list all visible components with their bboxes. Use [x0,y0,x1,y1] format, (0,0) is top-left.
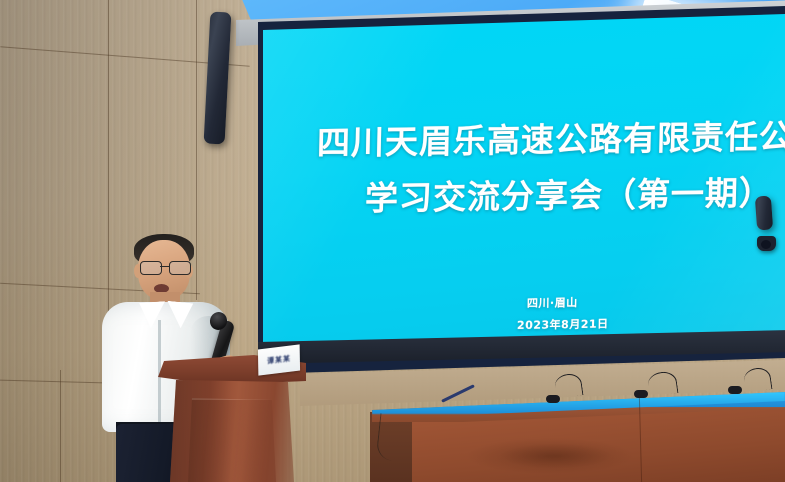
slide-title-line-2: 学习交流分享会（第一期） [365,166,774,220]
presentation-screen[interactable]: 四川天眉乐高速公路有限责任公司 学习交流分享会（第一期） 四川·眉山 2023年… [255,12,785,372]
glasses-lens-left [140,261,162,275]
conference-room-photo: 四川天眉乐高速公路有限责任公司 学习交流分享会（第一期） 四川·眉山 2023年… [0,0,785,482]
right-speaker-icon [755,195,773,230]
name-card-text: 谭某某 [267,354,291,367]
slide-title-line-1: 四川天眉乐高速公路有限责任公司 [317,109,785,164]
podium-shading [166,380,232,482]
gooseneck-mic-1-base [546,395,560,403]
glasses-lens-right [169,261,191,275]
gooseneck-mic-2-base [634,390,648,398]
name-card: 谭某某 [258,344,300,375]
ptz-camera-icon [757,236,776,251]
slide-location: 四川·眉山 [527,294,578,311]
slide-content: 四川天眉乐高速公路有限责任公司 学习交流分享会（第一期） 四川·眉山 2023年… [255,12,785,372]
gooseneck-mic-3-base [728,386,742,394]
slide-date: 2023年8月21日 [517,315,609,333]
glasses-bridge [160,266,169,267]
glasses-icon [140,261,190,273]
wall-seam-vertical [60,370,61,482]
